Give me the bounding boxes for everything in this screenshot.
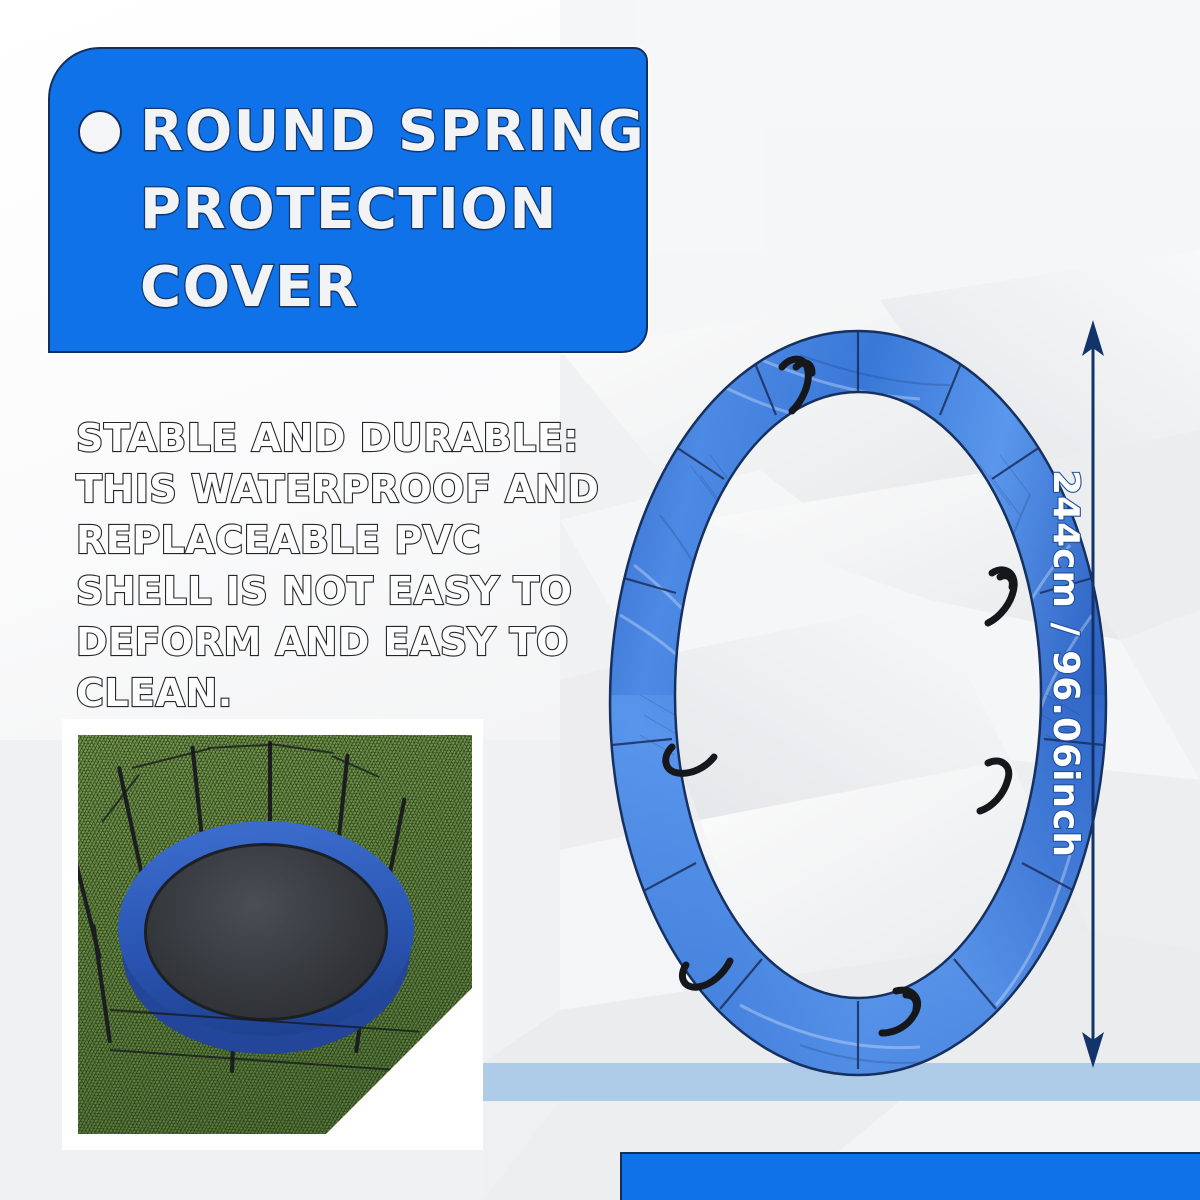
feature-description: STABLE AND DURABLE: THIS WATERPROOF AND … [76,413,566,719]
net-rail [208,744,272,749]
header-banner-content: ROUND SPRING PROTECTION COVER [78,93,632,327]
banner-title-line-3: COVER [78,249,632,327]
feature-line-5: DEFORM AND EASY TO [76,617,566,668]
net-pole [91,924,112,1043]
banner-title-text-3: COVER [140,259,359,317]
banner-title-line-1: ROUND SPRING [78,93,632,171]
lifestyle-photo-frame [62,719,483,1150]
banner-title-line-2: PROTECTION [78,171,632,249]
feature-line-6: CLEAN. [76,668,566,719]
net-rail [132,748,210,769]
feature-line-1: STABLE AND DURABLE: [76,413,566,464]
trampoline-in-garden-photo [78,735,472,1134]
feature-line-3: REPLACEABLE PVC [76,515,566,566]
header-banner: ROUND SPRING PROTECTION COVER [48,47,648,353]
net-rail [270,743,334,753]
net-rail [332,755,380,778]
dimension-label: 244cm / 96.06inch [1045,470,1086,858]
bullet-dot-icon [78,110,122,154]
bottom-blue-bar [620,1152,1200,1200]
feature-line-2: THIS WATERPROOF AND [76,464,566,515]
banner-title-text-2: PROTECTION [140,181,558,239]
round-spring-protection-cover-product [600,315,1120,1085]
photo-corner-cut [324,986,472,1134]
product-infographic-page: ROUND SPRING PROTECTION COVER STABLE AND… [0,0,1200,1200]
net-pole [78,823,102,960]
feature-line-4: SHELL IS NOT EASY TO [76,566,566,617]
banner-title-text-1: ROUND SPRING [140,103,645,161]
